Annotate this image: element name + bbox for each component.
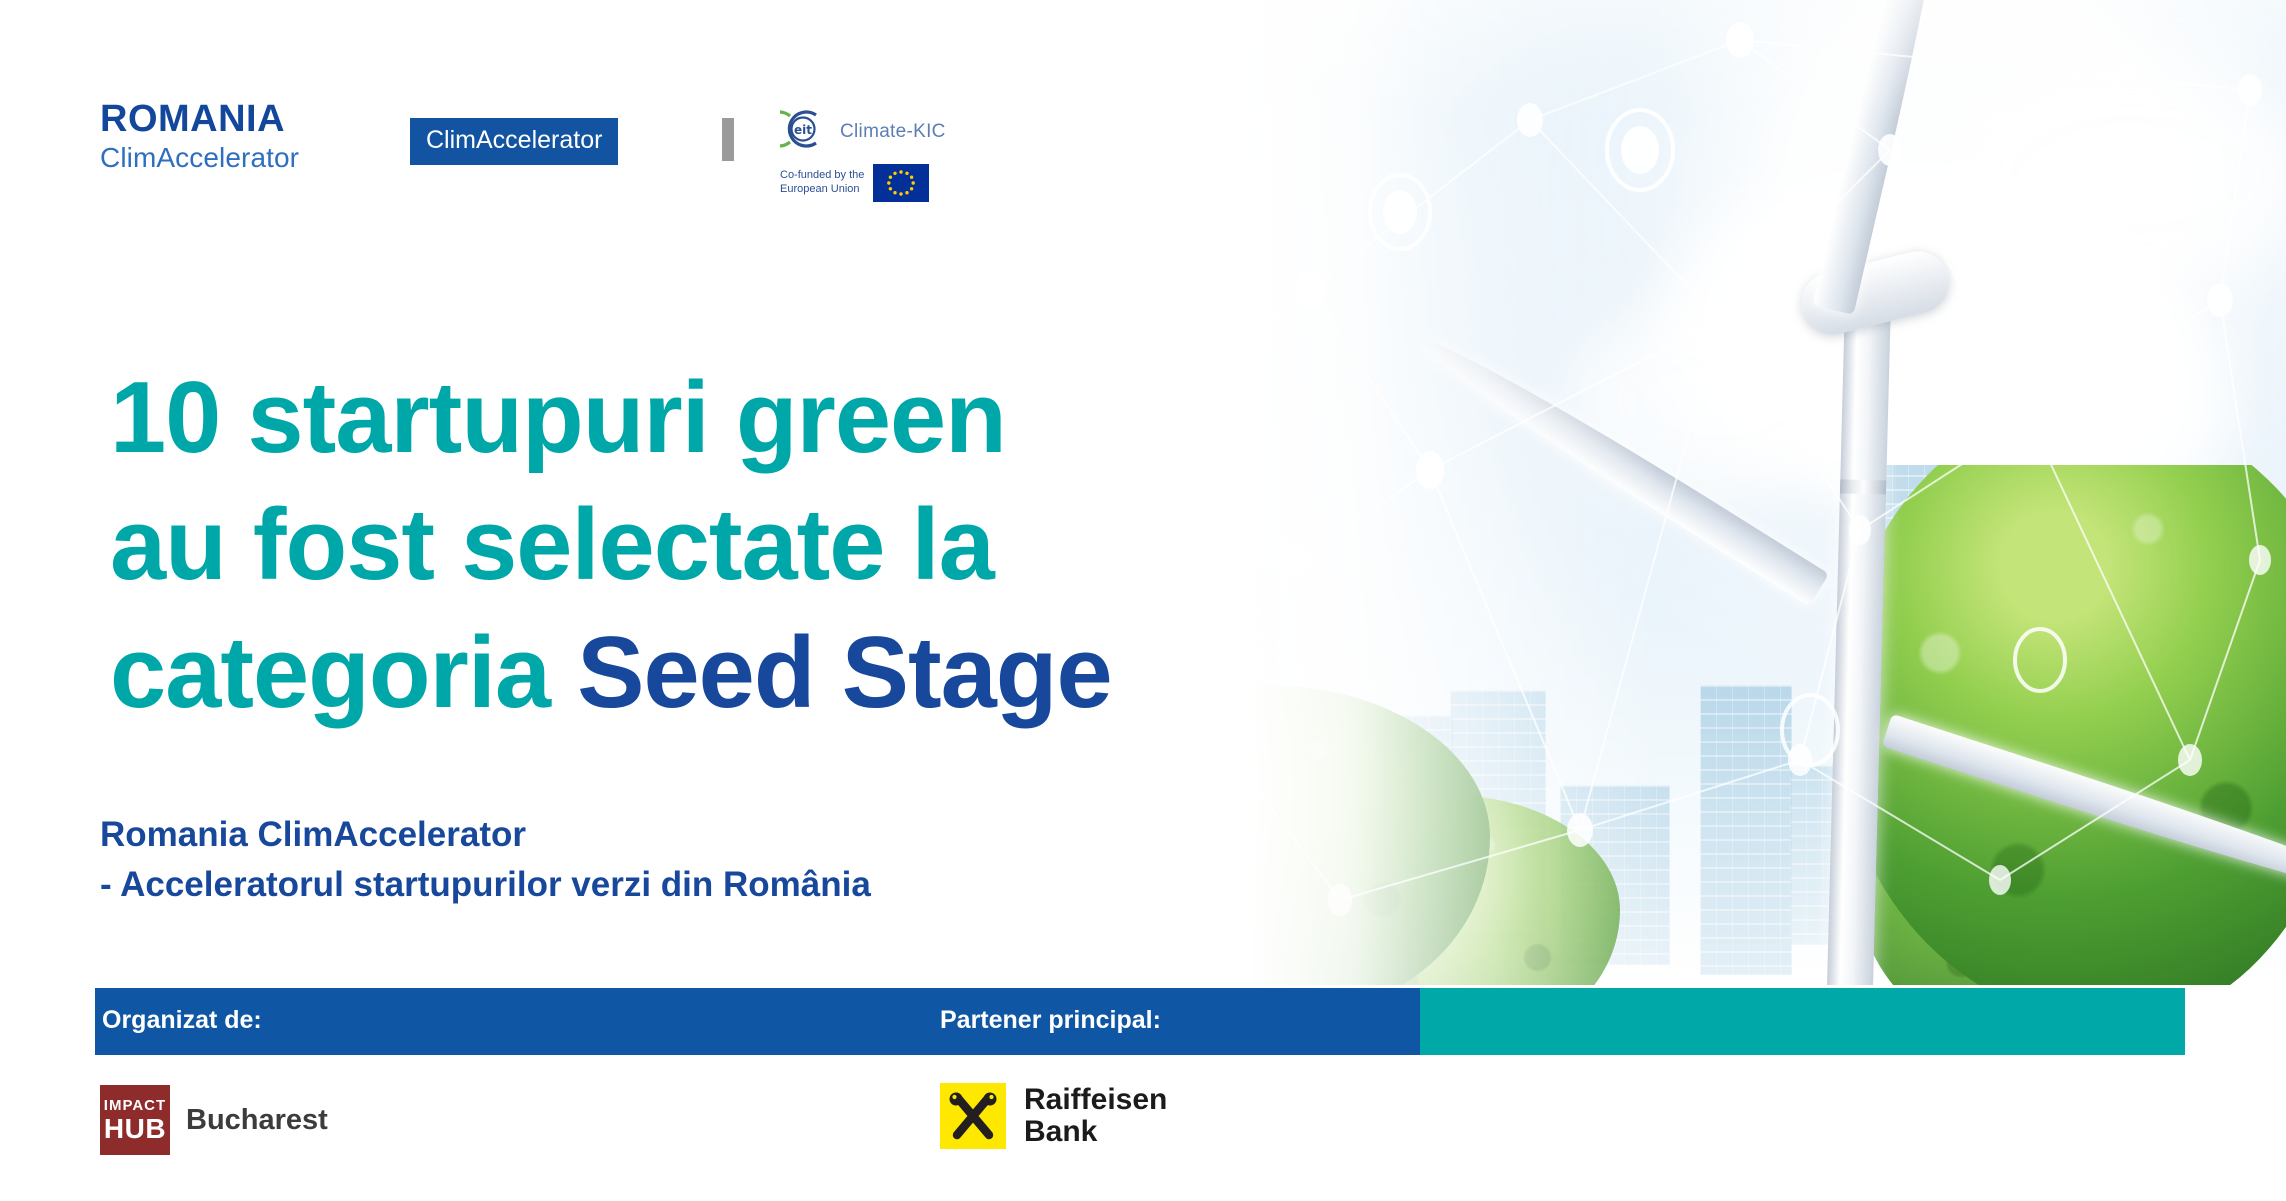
climaccelerator-badge-side-bar bbox=[722, 118, 734, 161]
impact-hub-mark-icon: IMPACT HUB bbox=[100, 1085, 170, 1155]
subtitle: Romania ClimAccelerator - Acceleratorul … bbox=[100, 810, 871, 909]
raiffeisen-wordmark-line1: Raiffeisen bbox=[1024, 1084, 1167, 1116]
background-scene-image bbox=[1100, 0, 2286, 985]
headline-line-1: 10 startupuri green bbox=[110, 355, 1112, 482]
eu-cofunded-text: Co-funded by the European Union bbox=[780, 169, 864, 197]
background-left-fade bbox=[1100, 0, 1660, 985]
headline: 10 startupuri green au fost selectate la… bbox=[110, 355, 1112, 737]
eu-cofunded-line1: Co-funded by the bbox=[780, 169, 864, 183]
poster-canvas: ROMANIA ClimAccelerator ClimAccelerator … bbox=[0, 0, 2286, 1201]
climaccelerator-badge: ClimAccelerator bbox=[410, 118, 618, 165]
impact-hub-city-label: Bucharest bbox=[186, 1104, 328, 1137]
eit-circle-icon: eit bbox=[780, 108, 832, 155]
impact-hub-mark-line1: IMPACT bbox=[104, 1098, 166, 1113]
raiffeisen-gable-cross-icon bbox=[940, 1083, 1006, 1149]
subtitle-line-1: Romania ClimAccelerator bbox=[100, 810, 871, 860]
headline-line-2: au fost selectate la bbox=[110, 482, 1112, 609]
impact-hub-bucharest-logo: IMPACT HUB Bucharest bbox=[100, 1085, 328, 1155]
background-top-fade bbox=[1100, 0, 2286, 120]
bottom-bar-blue bbox=[95, 988, 1420, 1055]
romania-logo-line2: ClimAccelerator bbox=[100, 144, 299, 172]
svg-text:eit: eit bbox=[794, 123, 812, 137]
subtitle-line-2: - Acceleratorul startupurilor verzi din … bbox=[100, 860, 871, 910]
headline-line-3-teal: categoria bbox=[110, 617, 577, 729]
partener-principal-label: Partener principal: bbox=[940, 1006, 1161, 1035]
headline-line-3-navy: Seed Stage bbox=[577, 617, 1112, 729]
headline-line-3: categoria Seed Stage bbox=[110, 610, 1112, 737]
raiffeisen-wordmark-line2: Bank bbox=[1024, 1116, 1167, 1148]
impact-hub-mark-line2: HUB bbox=[104, 1115, 166, 1143]
eu-flag-icon bbox=[873, 164, 929, 202]
romania-climaccelerator-logo: ROMANIA ClimAccelerator bbox=[100, 100, 299, 172]
eit-climate-kic-logo: eit Climate-KIC Co-funded by the Europea… bbox=[780, 108, 955, 202]
eit-wordmark: Climate-KIC bbox=[840, 121, 946, 143]
bottom-bar-teal bbox=[1420, 988, 2185, 1055]
footer-logo-row: IMPACT HUB Bucharest bbox=[0, 1075, 2286, 1165]
raiffeisen-wordmark: Raiffeisen Bank bbox=[1024, 1084, 1167, 1149]
romania-logo-line1: ROMANIA bbox=[100, 100, 299, 138]
organizat-de-label: Organizat de: bbox=[102, 1006, 262, 1035]
raiffeisen-bank-logo: Raiffeisen Bank bbox=[940, 1083, 1167, 1149]
eu-cofunded-line2: European Union bbox=[780, 183, 864, 197]
